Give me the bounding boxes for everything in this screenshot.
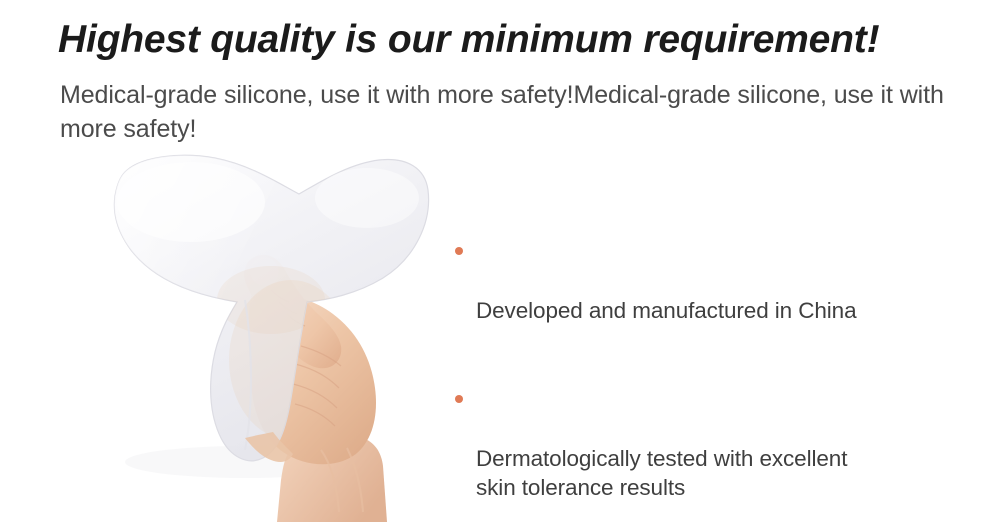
list-item-label: Dermatologically tested with excellent s… [476,444,972,504]
list-item-label: Developed and manufactured in China [476,296,972,326]
bullet-dot-icon [455,395,463,403]
bullet-dot-icon [455,247,463,255]
hand-holding-silicone-pad-illustration [95,150,455,522]
product-photo [95,150,455,522]
silicone-pad [95,150,429,461]
product-feature-banner: Highest quality is our minimum requireme… [0,0,1000,522]
feature-list: Developed and manufactured in China Derm… [452,236,972,522]
page-title: Highest quality is our minimum requireme… [58,18,958,63]
subtitle-text: Medical-grade silicone, use it with more… [60,78,965,146]
list-item: Dermatologically tested with excellent s… [452,384,972,522]
list-item: Developed and manufactured in China [452,236,972,356]
